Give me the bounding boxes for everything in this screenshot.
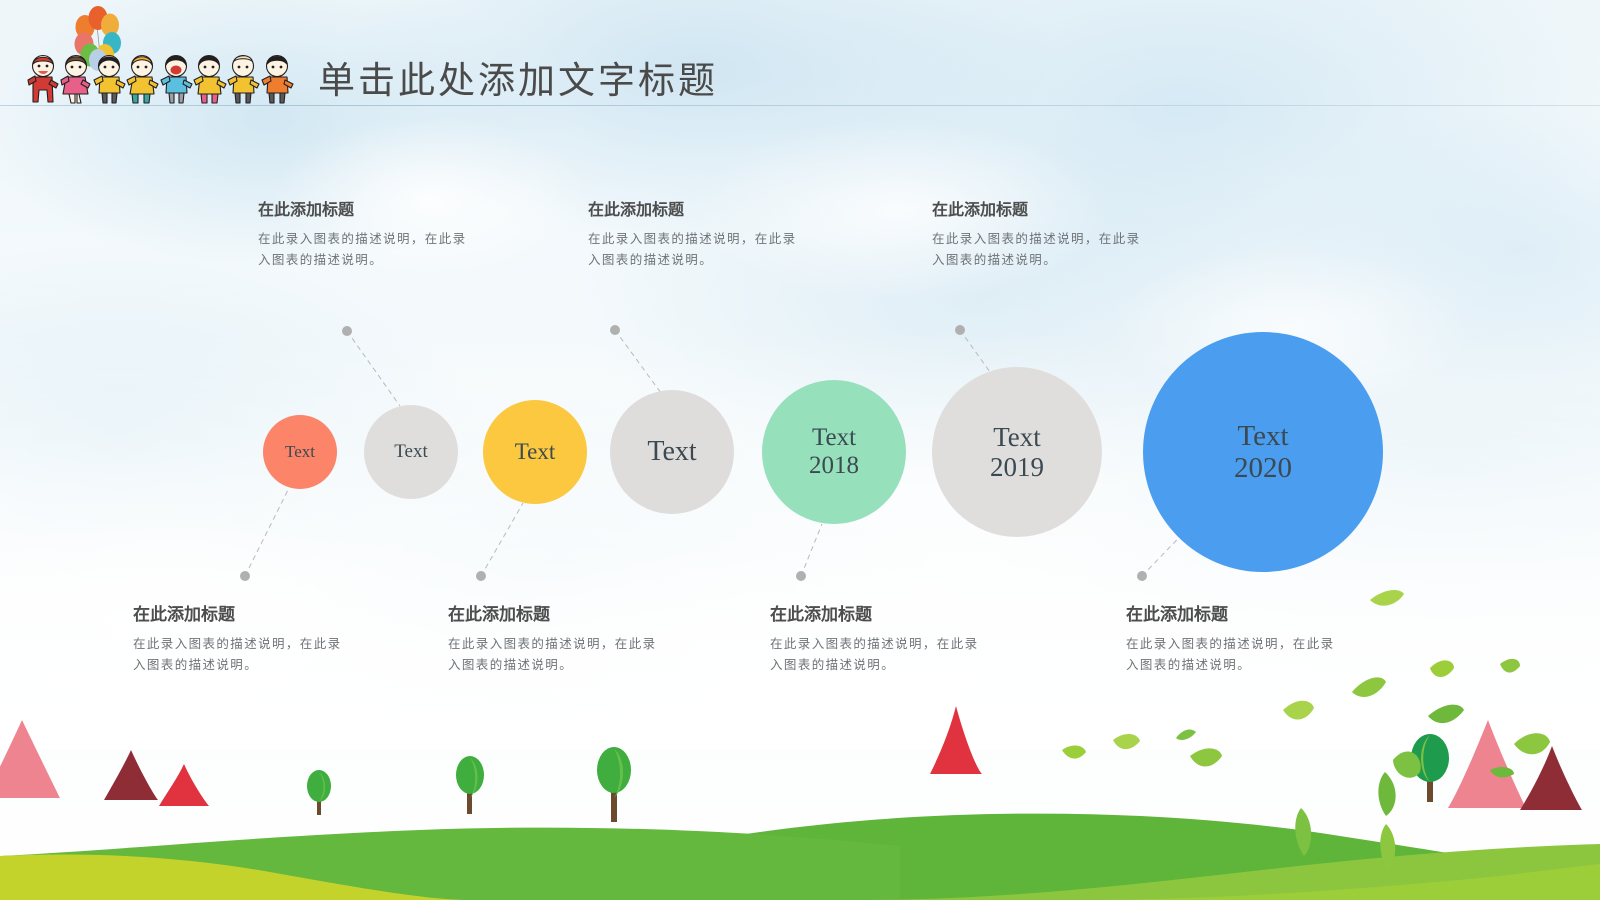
connector-line <box>347 331 400 406</box>
callout-body: 在此录入图表的描述说明，在此录入图表的描述说明。 <box>258 229 467 270</box>
callout-heading: 在此添加标题 <box>258 196 467 220</box>
callout-top-1[interactable]: 在此添加标题在此录入图表的描述说明，在此录入图表的描述说明。 <box>258 196 467 270</box>
callout-heading: 在此添加标题 <box>932 196 1141 220</box>
tree-round-green <box>307 770 331 815</box>
node-label: Text <box>285 442 315 461</box>
tree-pink <box>0 720 60 798</box>
node-label: Text <box>647 436 696 467</box>
callout-body-line: 入图表的描述说明。 <box>258 250 467 271</box>
tree-round-green <box>456 756 484 814</box>
node-label: Text <box>515 439 556 465</box>
node-label: Text <box>812 424 856 452</box>
tree-red <box>159 764 209 806</box>
connector-dot <box>342 326 352 336</box>
tree-darkred <box>104 750 158 800</box>
timeline-node-6[interactable]: Text2019 <box>932 367 1102 537</box>
timeline-node-5[interactable]: Text2018 <box>762 380 906 524</box>
timeline-node-1[interactable]: Text <box>263 415 337 489</box>
tree-round-green <box>597 747 631 822</box>
slide-canvas: 单击此处添加文字标题 TextTextTextTextText2018Text2… <box>0 0 1600 900</box>
timeline-node-4[interactable]: Text <box>610 390 734 514</box>
callout-body: 在此录入图表的描述说明，在此录入图表的描述说明。 <box>932 229 1141 270</box>
callout-heading: 在此添加标题 <box>588 196 797 220</box>
node-label: Text <box>1237 420 1288 452</box>
callout-body: 在此录入图表的描述说明，在此录入图表的描述说明。 <box>588 229 797 270</box>
tree-red-tall <box>930 706 982 774</box>
callout-top-3[interactable]: 在此添加标题在此录入图表的描述说明，在此录入图表的描述说明。 <box>932 196 1141 270</box>
callout-body-line: 入图表的描述说明。 <box>588 250 797 271</box>
timeline-node-2[interactable]: Text <box>364 405 458 499</box>
callout-body-line: 在此录入图表的描述说明，在此录 <box>932 229 1141 250</box>
node-label: Text <box>993 422 1041 452</box>
timeline-node-3[interactable]: Text <box>483 400 587 504</box>
connector-dot <box>610 325 620 335</box>
node-label: Text <box>394 441 428 462</box>
callout-top-2[interactable]: 在此添加标题在此录入图表的描述说明，在此录入图表的描述说明。 <box>588 196 797 270</box>
scenery-illustration <box>0 560 1600 900</box>
callout-body-line: 在此录入图表的描述说明，在此录 <box>258 229 467 250</box>
callout-body-line: 在此录入图表的描述说明，在此录 <box>588 229 797 250</box>
node-year: 2020 <box>1234 452 1292 484</box>
node-year: 2019 <box>990 452 1044 482</box>
callout-body-line: 入图表的描述说明。 <box>932 250 1141 271</box>
node-year: 2018 <box>809 452 859 480</box>
timeline-node-7[interactable]: Text2020 <box>1143 332 1383 572</box>
tree-pink-right <box>1448 720 1526 808</box>
tree-darkred-right <box>1520 746 1582 810</box>
connector-line <box>615 330 661 393</box>
connector-dot <box>955 325 965 335</box>
